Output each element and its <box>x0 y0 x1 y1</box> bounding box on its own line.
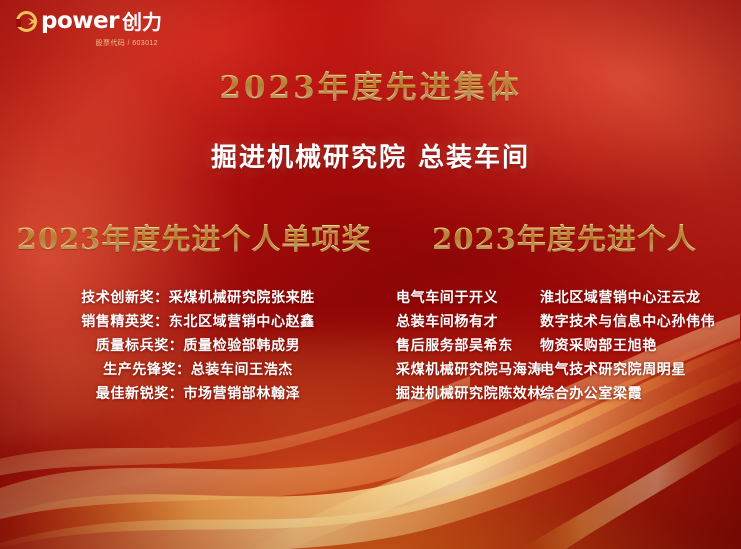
list-item-name-left: 采煤机械研究院马海涛 <box>388 358 540 382</box>
stock-code-line: 股票代码 / 603012 <box>16 38 162 48</box>
list-item-name-left: 总装车间杨有才 <box>388 310 540 334</box>
poster-content: 2023年度先进集体 掘进机械研究院 总装车间 2023年度先进个人单项奖 20… <box>0 0 741 549</box>
section-heading-advanced-individual: 2023年度先进个人 <box>388 216 741 258</box>
list-item: 生产先锋奖：总装车间王浩杰 <box>8 358 388 382</box>
list-item-name-right: 数字技术与信息中心孙伟伟 <box>540 310 735 334</box>
logo-wordmark: power <box>41 10 119 33</box>
list-item: 销售精英奖：东北区域营销中心赵鑫 <box>8 310 388 334</box>
power-c-mark-icon <box>16 11 37 32</box>
list-item-name-right: 综合办公室梁霞 <box>540 382 735 406</box>
brand-logo: power 创力 股票代码 / 603012 <box>16 10 162 48</box>
award-list-individual-special: 技术创新奖：采煤机械研究院张来胜 销售精英奖：东北区域营销中心赵鑫 质量标兵奖：… <box>0 286 388 406</box>
list-item-name-left: 掘进机械研究院陈效林 <box>388 382 540 406</box>
section-heading-individual-special-award: 2023年度先进个人单项奖 <box>0 216 388 258</box>
list-item: 质量标兵奖：质量检验部韩成男 <box>8 334 388 358</box>
list-item-name-left: 电气车间于开义 <box>388 286 540 310</box>
list-item: 技术创新奖：采煤机械研究院张来胜 <box>8 286 388 310</box>
page-subtitle: 掘进机械研究院 总装车间 <box>0 137 741 174</box>
page-title: 2023年度先进集体 <box>0 62 741 107</box>
list-item: 电气车间于开义 淮北区域营销中心汪云龙 <box>388 286 735 310</box>
list-item-name-right: 电气技术研究院周明星 <box>540 358 735 382</box>
list-item: 总装车间杨有才 数字技术与信息中心孙伟伟 <box>388 310 735 334</box>
logo-wordmark-cn: 创力 <box>122 12 162 32</box>
logo-row: power 创力 <box>16 10 162 33</box>
list-item-name-left: 售后服务部吴希东 <box>388 334 540 358</box>
list-item: 售后服务部吴希东 物资采购部王旭艳 <box>388 334 735 358</box>
award-lists: 技术创新奖：采煤机械研究院张来胜 销售精英奖：东北区域营销中心赵鑫 质量标兵奖：… <box>0 286 741 406</box>
list-item-name-right: 淮北区域营销中心汪云龙 <box>540 286 735 310</box>
list-item: 采煤机械研究院马海涛 电气技术研究院周明星 <box>388 358 735 382</box>
list-item: 掘进机械研究院陈效林 综合办公室梁霞 <box>388 382 735 406</box>
list-item-name-right: 物资采购部王旭艳 <box>540 334 735 358</box>
award-list-advanced-individual: 电气车间于开义 淮北区域营销中心汪云龙 总装车间杨有才 数字技术与信息中心孙伟伟… <box>388 286 741 406</box>
award-poster: power 创力 股票代码 / 603012 2023年度先进集体 掘进机械研究… <box>0 0 741 549</box>
list-item: 最佳新锐奖：市场营销部林翰泽 <box>8 382 388 406</box>
section-headings: 2023年度先进个人单项奖 2023年度先进个人 <box>0 216 741 258</box>
